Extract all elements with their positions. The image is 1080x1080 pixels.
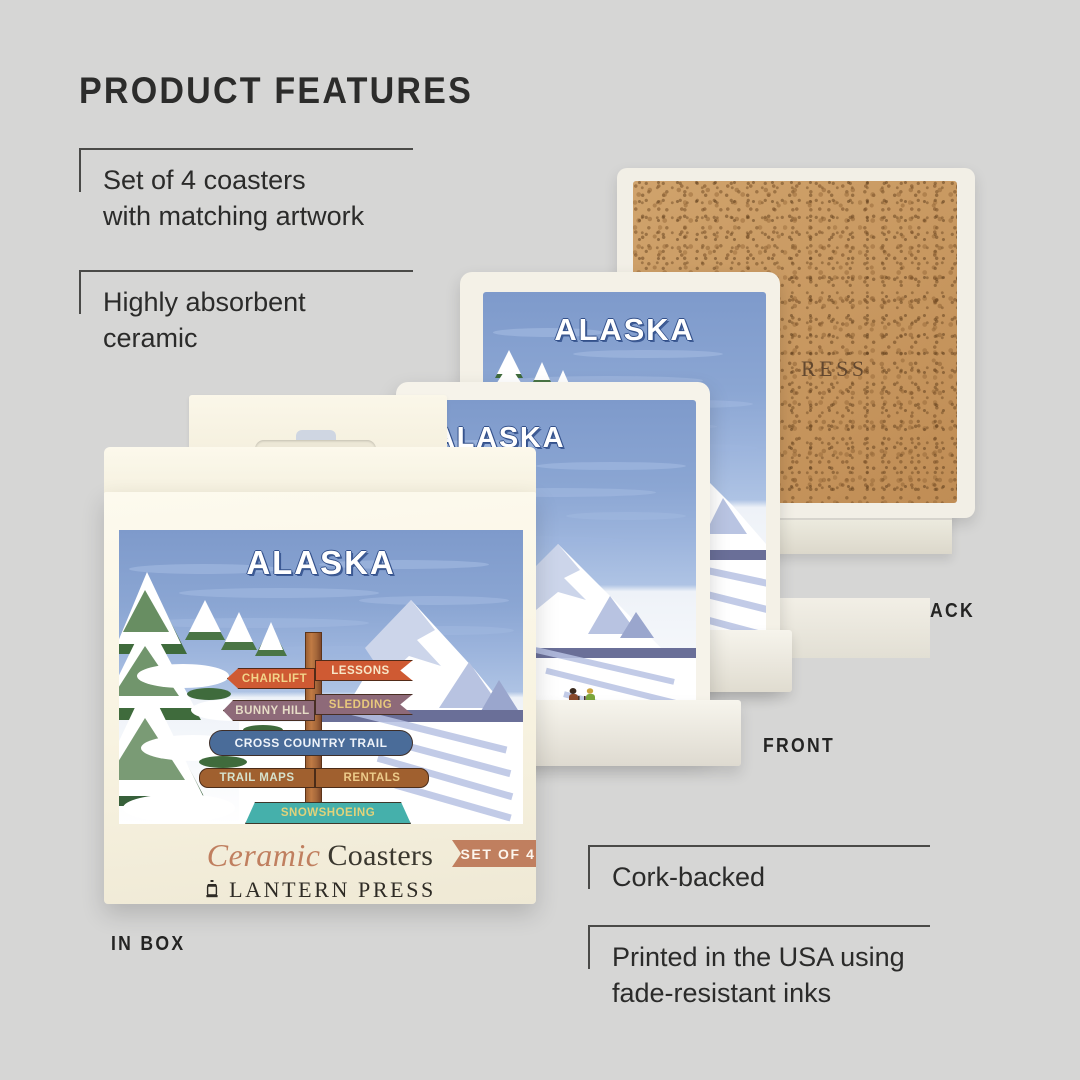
feature-bracket-stub (79, 270, 81, 314)
package-window: ALASKA (119, 530, 523, 824)
caption-in-box: IN BOX (111, 933, 185, 956)
artwork-title-middle: ALASKA (483, 312, 766, 348)
sign-lessons: LESSONS (315, 660, 413, 681)
lantern-icon (204, 880, 220, 900)
sky-streak (536, 462, 686, 470)
feature-text: Cork-backed (612, 859, 1032, 895)
brand-coasters-word: Coasters (327, 839, 433, 872)
feature-text: Printed in the USA using fade-resistant … (612, 939, 1032, 1011)
feature-bracket-stub (588, 925, 590, 969)
product-feature-composite: PRODUCT FEATURES Set of 4 coasters with … (0, 0, 1080, 1080)
sign-chairlift: CHAIRLIFT (227, 668, 315, 689)
feature-divider-rule (588, 845, 930, 847)
sign-rentals: RENTALS (315, 768, 429, 788)
feature-text: Set of 4 coasters with matching artwork (103, 162, 483, 234)
sign-trail-maps: TRAIL MAPS (199, 768, 315, 788)
feature-divider-rule (79, 148, 413, 150)
sign-cross-country-trail: CROSS COUNTRY TRAIL (209, 730, 413, 756)
publisher-name: LANTERN PRESS (229, 877, 436, 903)
set-of-4-badge: SET OF 4 (452, 840, 536, 867)
sign-sledding: SLEDDING (315, 694, 413, 715)
coaster-artwork-in-box: ALASKA (119, 530, 523, 824)
sky-streak (573, 350, 723, 358)
publisher-row: LANTERN PRESS (104, 877, 536, 903)
feature-divider-rule (588, 925, 930, 927)
sky-streak (566, 512, 686, 520)
feature-bracket-stub (588, 845, 590, 889)
feature-bracket-stub (79, 148, 81, 192)
feature-text: Highly absorbent ceramic (103, 284, 483, 356)
page-title: PRODUCT FEATURES (79, 70, 473, 112)
caption-front: FRONT (763, 735, 835, 758)
brand-ceramic-word: Ceramic (207, 837, 321, 873)
sign-bunny-hill: BUNNY HILL (223, 700, 315, 721)
feature-divider-rule (79, 270, 413, 272)
cork-imprint-text: RESS (801, 356, 868, 382)
sign-snowshoeing: SNOWSHOEING (245, 802, 411, 824)
